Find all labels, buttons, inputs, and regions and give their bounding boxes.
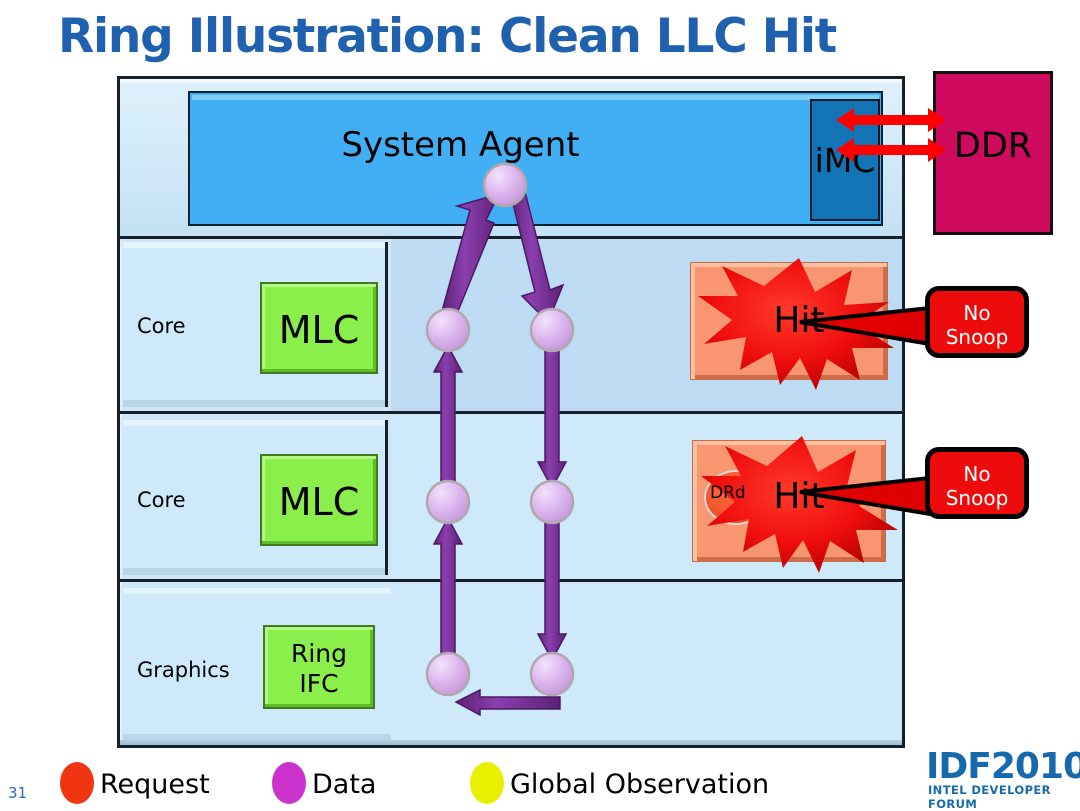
memory-bus-arrows xyxy=(836,106,946,172)
ring-interconnect xyxy=(400,150,620,720)
core-label-1: Core xyxy=(137,314,186,338)
ring-arrow-down-diagonal xyxy=(510,188,563,322)
ring-node-system-agent xyxy=(484,164,526,206)
no-snoop-callout-1: No Snoop xyxy=(925,286,1029,358)
ring-ifc-block: Ring IFC xyxy=(263,625,375,709)
legend-label-global-observation: Global Observation xyxy=(510,769,769,800)
graphics-label: Graphics xyxy=(137,658,230,682)
ddr-block: DDR xyxy=(933,71,1053,235)
data-dot-icon xyxy=(272,762,306,804)
core-cell-2: Core MLC xyxy=(123,420,388,575)
idf-logo-main: IDF2010 xyxy=(926,746,1080,787)
slide-canvas: Ring Illustration: Clean LLC Hit System … xyxy=(0,0,1080,811)
mlc-label-1: MLC xyxy=(262,308,376,352)
no-snoop-line2: Snoop xyxy=(930,324,1024,350)
legend-label-request: Request xyxy=(100,769,210,800)
no-snoop-connector-2 xyxy=(800,470,940,530)
ring-node-core2-right xyxy=(531,481,573,523)
legend-label-data: Data xyxy=(312,769,376,800)
graphics-cell: Graphics Ring IFC xyxy=(123,588,391,741)
core-label-2: Core xyxy=(137,488,186,512)
no-snoop-connector-1 xyxy=(800,300,940,360)
ddr-label: DDR xyxy=(936,126,1050,166)
core-cell-1: Core MLC xyxy=(123,242,388,407)
ring-arrow-up-2 xyxy=(434,518,462,658)
mlc-block-1: MLC xyxy=(260,282,378,374)
bevel-highlight xyxy=(192,95,879,100)
idf-logo-subtitle: INTEL DEVELOPER FORUM xyxy=(928,783,1076,811)
ring-node-core2-left xyxy=(427,481,469,523)
global-observation-dot-icon xyxy=(470,762,504,804)
ring-arrow-down-2 xyxy=(538,520,566,660)
mlc-label-2: MLC xyxy=(262,480,376,524)
no-snoop-line1: No xyxy=(930,461,1024,487)
ring-node-core1-left xyxy=(427,309,469,351)
request-dot-icon xyxy=(60,762,94,804)
ring-arrow-up-1 xyxy=(434,346,462,488)
page-number: 31 xyxy=(8,784,27,802)
ring-node-core1-right xyxy=(531,309,573,351)
bevel-highlight xyxy=(120,79,902,83)
no-snoop-callout-2: No Snoop xyxy=(925,447,1029,519)
ring-node-gfx-left xyxy=(427,653,469,695)
no-snoop-line1: No xyxy=(930,300,1024,326)
no-snoop-line2: Snoop xyxy=(930,485,1024,511)
idf-logo: IDF2010 INTEL DEVELOPER FORUM xyxy=(926,746,1076,802)
legend: Request Data Global Observation xyxy=(0,756,900,808)
page-title: Ring Illustration: Clean LLC Hit xyxy=(58,8,1008,66)
mlc-block-2: MLC xyxy=(260,454,378,546)
drd-label: DRd xyxy=(710,483,746,503)
ring-ifc-label-line1: Ring xyxy=(265,639,373,669)
ring-ifc-label-line2: IFC xyxy=(265,669,373,699)
ring-node-gfx-right xyxy=(531,653,573,695)
ring-arrow-down-1 xyxy=(538,348,566,488)
ring-arrow-up-diagonal xyxy=(442,194,499,316)
